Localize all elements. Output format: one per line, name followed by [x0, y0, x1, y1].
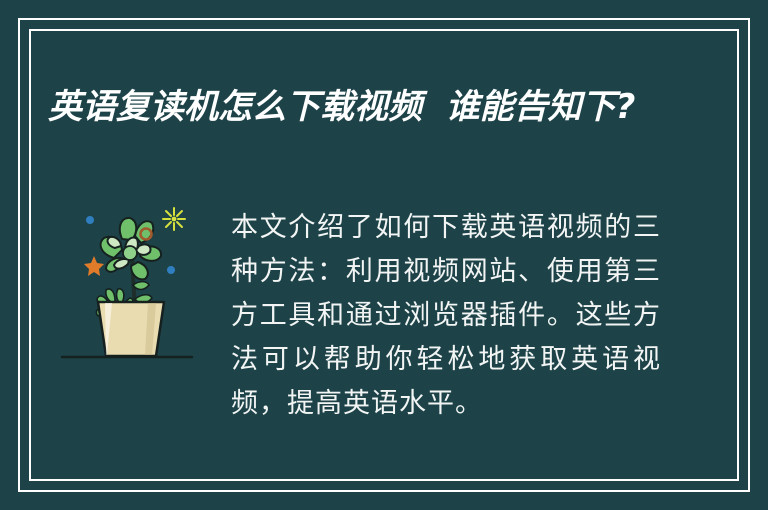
orange-star-icon	[84, 256, 104, 276]
flower-pot	[98, 302, 164, 356]
page-title: 英语复读机怎么下载视频 谁能告知下?	[48, 81, 668, 133]
flower-head	[101, 218, 161, 279]
blue-dot-icon	[167, 266, 175, 274]
article-summary: 本文介绍了如何下载英语视频的三种方法：利用视频网站、使用第三方工具和通过浏览器插…	[231, 206, 661, 426]
potted-plant-illustration	[52, 186, 232, 376]
article-summary-text: 本文介绍了如何下载英语视频的三种方法：利用视频网站、使用第三方工具和通过浏览器插…	[231, 206, 661, 426]
blue-dot-icon	[86, 216, 94, 224]
yellow-sparkle-icon	[163, 208, 185, 230]
article-card: 英语复读机怎么下载视频 谁能告知下?	[0, 0, 768, 510]
